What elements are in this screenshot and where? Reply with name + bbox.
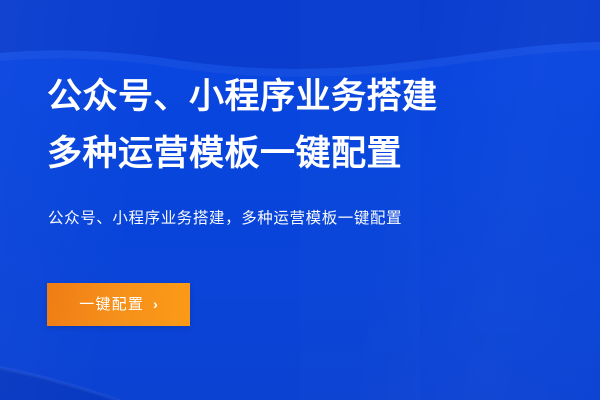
chevron-right-icon: › — [153, 297, 158, 311]
cta-button-label: 一键配置 — [79, 297, 144, 312]
banner-content: 公众号、小程序业务搭建 多种运营模板一键配置 公众号、小程序业务搭建，多种运营模… — [47, 0, 567, 400]
headline-line-1: 公众号、小程序业务搭建 — [47, 68, 438, 125]
promo-banner: 公众号、小程序业务搭建 多种运营模板一键配置 公众号、小程序业务搭建，多种运营模… — [0, 0, 600, 400]
headline: 公众号、小程序业务搭建 多种运营模板一键配置 — [47, 68, 438, 182]
subtitle: 公众号、小程序业务搭建，多种运营模板一键配置 — [48, 208, 402, 230]
one-click-config-button[interactable]: 一键配置 › — [47, 283, 190, 326]
headline-line-2: 多种运营模板一键配置 — [47, 125, 438, 182]
